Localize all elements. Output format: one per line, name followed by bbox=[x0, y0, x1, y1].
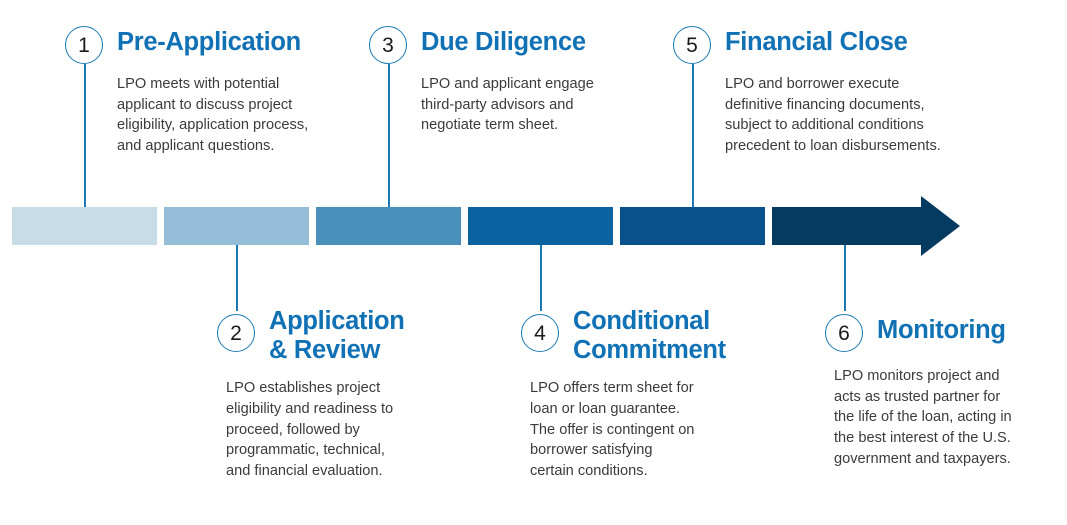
step-3-number-badge: 3 bbox=[369, 26, 407, 64]
step-1-number-badge: 1 bbox=[65, 26, 103, 64]
step-2-header: 2 Application & Review bbox=[217, 305, 497, 364]
process-step-5[interactable]: 5 Financial Close LPO and borrower execu… bbox=[673, 26, 993, 157]
step-3-description: LPO and applicant engage third-party adv… bbox=[421, 74, 651, 136]
process-step-1[interactable]: 1 Pre-Application LPO meets with potenti… bbox=[65, 26, 345, 157]
process-timeline-diagram: 1 Pre-Application LPO meets with potenti… bbox=[0, 0, 1067, 525]
step-5-description: LPO and borrower execute definitive fina… bbox=[725, 74, 993, 157]
step-4-title: Conditional Commitment bbox=[573, 307, 726, 364]
process-bar-segment-2 bbox=[164, 207, 309, 245]
step-3-title: Due Diligence bbox=[421, 28, 586, 57]
step-5-header: 5 Financial Close bbox=[673, 26, 993, 64]
step-6-title: Monitoring bbox=[877, 316, 1006, 345]
step-2-number-badge: 2 bbox=[217, 314, 255, 352]
process-bar-segment-4 bbox=[468, 207, 613, 245]
process-step-2[interactable]: 2 Application & Review LPO establishes p… bbox=[217, 305, 497, 482]
step-4-number-badge: 4 bbox=[521, 314, 559, 352]
process-bar-segment-1 bbox=[12, 207, 157, 245]
process-bar-segment-5 bbox=[620, 207, 765, 245]
step-4-header: 4 Conditional Commitment bbox=[521, 305, 801, 364]
step-1-header: 1 Pre-Application bbox=[65, 26, 345, 64]
step-2-title: Application & Review bbox=[269, 307, 405, 364]
step-2-description: LPO establishes project eligibility and … bbox=[226, 378, 476, 482]
arrow-head-icon bbox=[921, 196, 960, 256]
process-bar-segment-3 bbox=[316, 207, 461, 245]
step-4-description: LPO offers term sheet for loan or loan g… bbox=[530, 378, 780, 482]
connector-stem-6 bbox=[844, 245, 846, 311]
step-6-description: LPO monitors project and acts as trusted… bbox=[834, 366, 1064, 470]
connector-stem-4 bbox=[540, 245, 542, 311]
process-bar-segment-6 bbox=[772, 207, 922, 245]
step-6-number-badge: 6 bbox=[825, 314, 863, 352]
step-5-title: Financial Close bbox=[725, 28, 908, 57]
connector-stem-2 bbox=[236, 245, 238, 311]
step-1-title: Pre-Application bbox=[117, 28, 301, 57]
step-3-header: 3 Due Diligence bbox=[369, 26, 649, 64]
process-step-6[interactable]: 6 Monitoring LPO monitors project and ac… bbox=[825, 305, 1065, 470]
step-1-description: LPO meets with potential applicant to di… bbox=[117, 74, 347, 157]
process-step-4[interactable]: 4 Conditional Commitment LPO offers term… bbox=[521, 305, 801, 482]
step-6-header: 6 Monitoring bbox=[825, 305, 1065, 352]
process-step-3[interactable]: 3 Due Diligence LPO and applicant engage… bbox=[369, 26, 649, 136]
step-5-number-badge: 5 bbox=[673, 26, 711, 64]
